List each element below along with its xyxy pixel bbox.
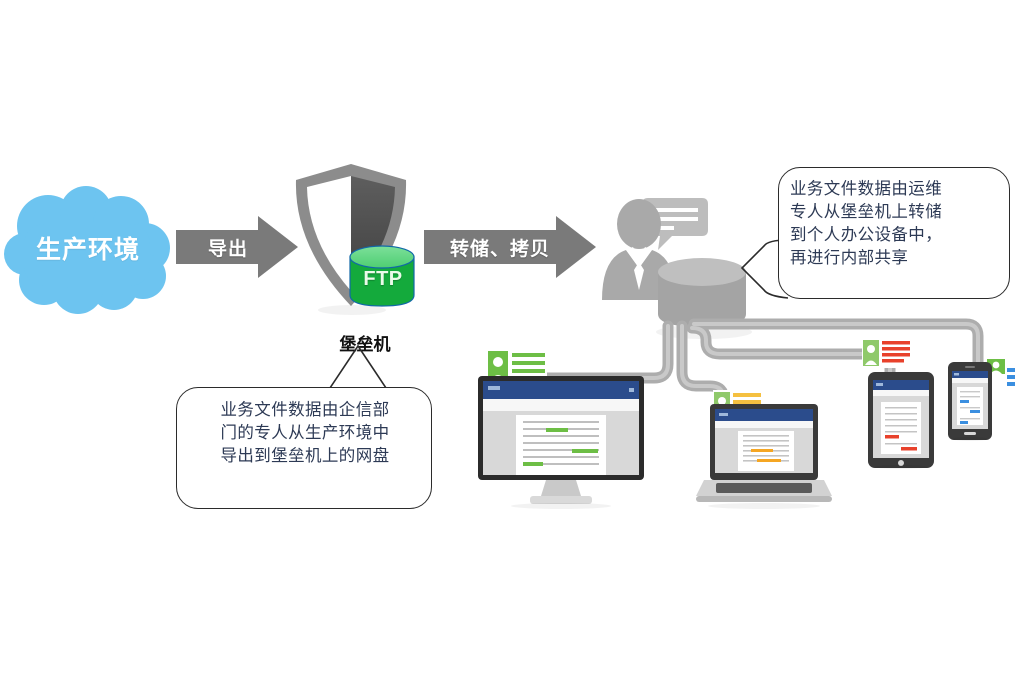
laptop-device (694, 404, 834, 510)
ftp-label: FTP (348, 244, 418, 308)
smartphone-device (948, 362, 992, 440)
user-card-tablet (862, 338, 912, 368)
tablet-device (868, 372, 934, 468)
cloud-label: 生产环境 (4, 186, 172, 310)
callout-right-text: 业务文件数据由运维 专人从堡垒机上转储 到个人办公设备中， 再进行内部共享 (790, 178, 1000, 290)
export-arrow-label: 导出 (176, 216, 280, 278)
callout-left-leader-line (300, 336, 420, 394)
callout-left-text: 业务文件数据由企信部 门的专人从生产环境中 导出到堡垒机上的网盘 (190, 399, 420, 499)
desktop-monitor-device (478, 376, 650, 508)
transfer-copy-arrow-label: 转储、拷贝 (424, 216, 576, 278)
diagram-canvas: 生产环境 导出 (0, 0, 1015, 675)
